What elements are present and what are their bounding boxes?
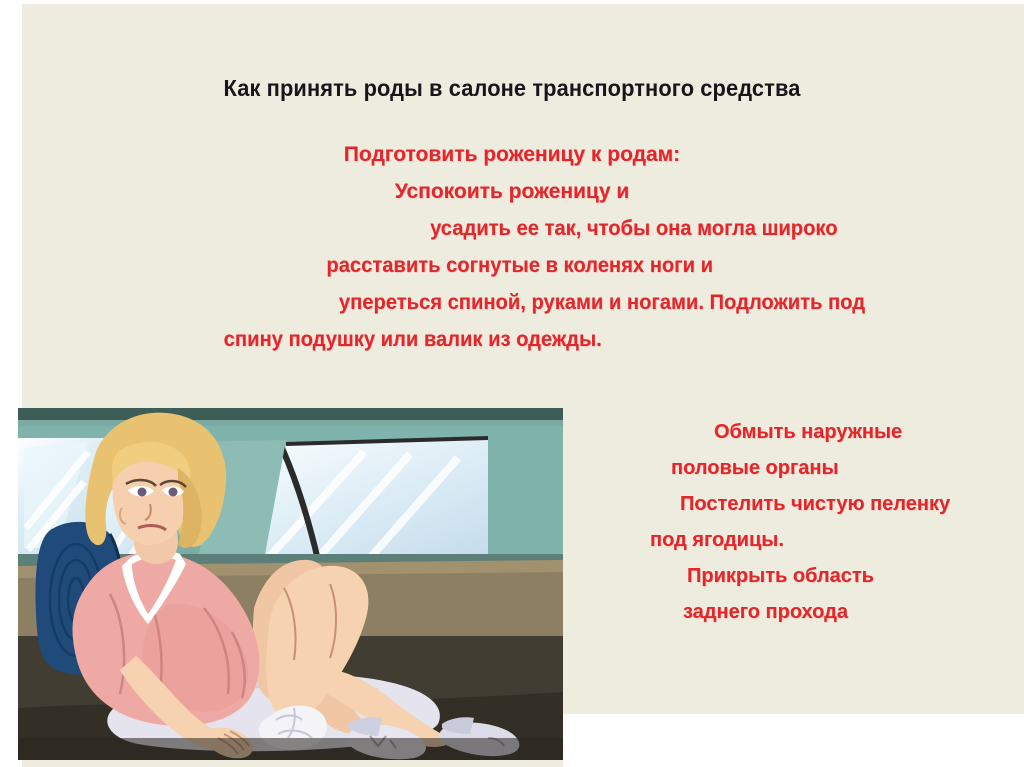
instruction-line: половые органы: [600, 450, 1024, 486]
instruction-line: Постелить чистую пеленку: [600, 486, 1024, 522]
instruction-line: спину подушку или валик из одежды.: [0, 321, 983, 358]
instruction-line: заднего прохода: [600, 594, 1024, 630]
instruction-line: упереться спиной, руками и ногами. Подло…: [0, 284, 983, 321]
pregnant-woman-in-car-illustration: [18, 408, 563, 760]
instruction-line: Обмыть наружные: [600, 414, 1024, 450]
instruction-line: Прикрыть область: [600, 558, 1024, 594]
instruction-line: расставить согнутые в коленях ноги и: [0, 247, 983, 284]
floor-shadow: [18, 738, 563, 760]
instruction-line: усадить ее так, чтобы она могла широко: [0, 210, 983, 247]
instruction-line: Успокоить роженицу и: [0, 173, 1024, 210]
page-title: Как принять роды в салоне транспортного …: [26, 74, 999, 102]
instruction-line: Подготовить роженицу к родам:: [0, 136, 1024, 173]
roof-trim: [18, 408, 563, 422]
instructions-preparation-block: Подготовить роженицу к родам: Успокоить …: [0, 136, 1024, 358]
instruction-line: под ягодицы.: [600, 522, 1024, 558]
slide-root: Как принять роды в салоне транспортного …: [0, 0, 1024, 767]
instructions-hygiene-block: Обмыть наружные половые органы Постелить…: [600, 414, 1024, 630]
